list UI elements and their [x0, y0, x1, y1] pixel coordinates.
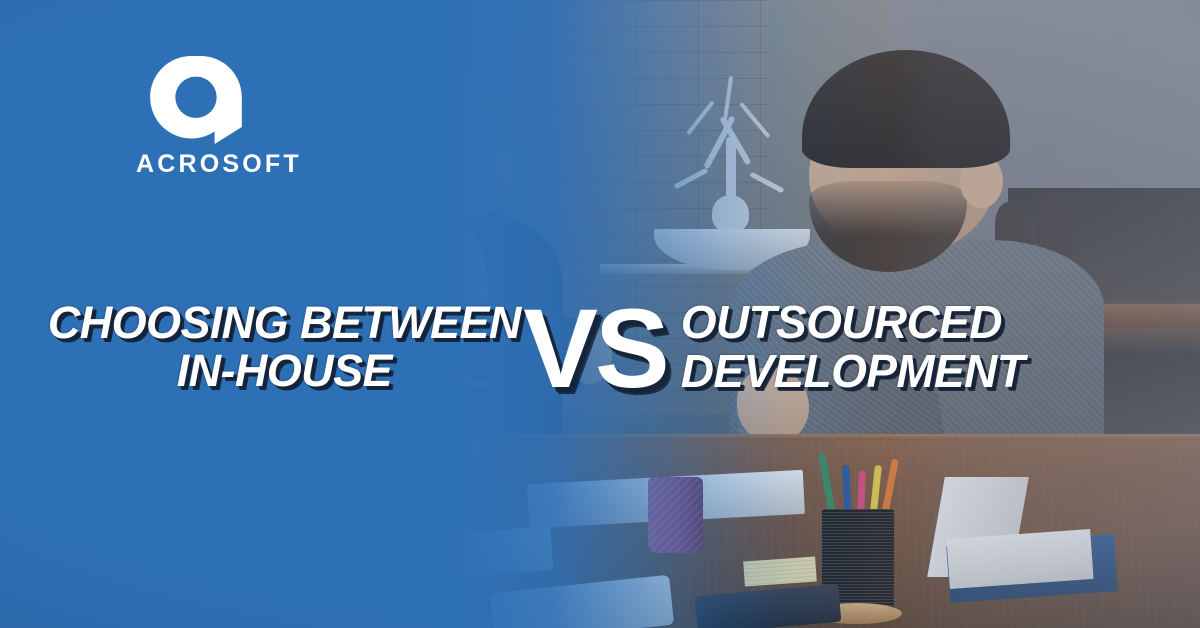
brand-logo: ACROSOFT [136, 56, 256, 177]
brand-name: ACROSOFT [136, 152, 256, 177]
promo-banner: ACROSOFT CHOOSING BETWEEN IN-HOUSE VS OU… [0, 0, 1200, 628]
acrosoft-a-logo-icon [150, 56, 242, 144]
